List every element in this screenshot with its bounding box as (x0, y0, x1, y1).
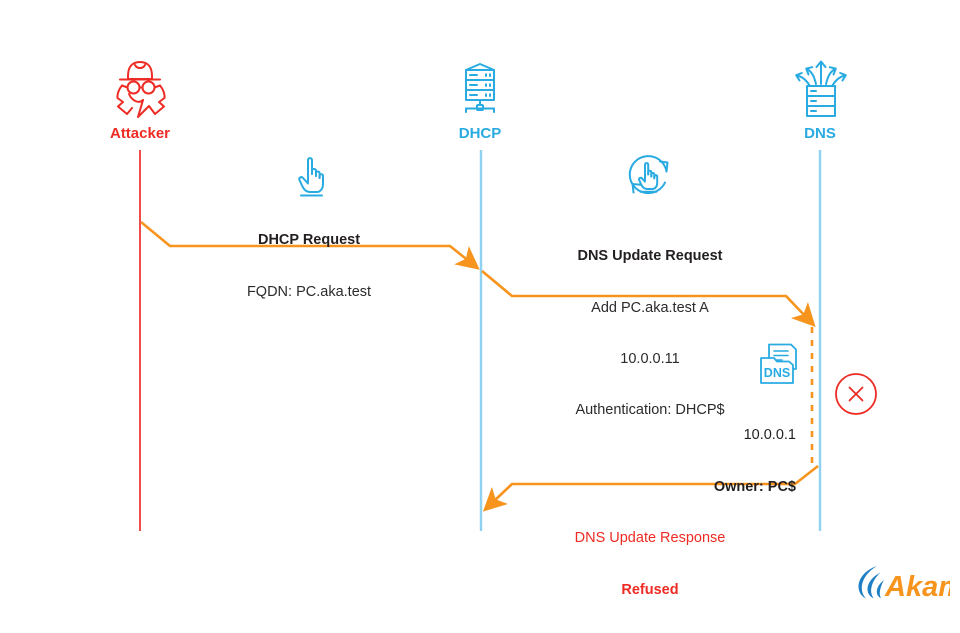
akamai-logo: Akamai (855, 562, 950, 604)
message-dns-update-response: DNS Update Response Refused (575, 496, 726, 633)
akamai-logo-text: Akamai (884, 571, 950, 603)
message-line-fqdn: FQDN: PC.aka.test (247, 284, 371, 301)
message-title-dns-update-request: DNS Update Request (575, 248, 724, 265)
dns-record-ip: 10.0.0.1 (646, 427, 796, 444)
actor-label-attacker: Attacker (110, 125, 170, 143)
dns-record-folder-icon: DNS (755, 342, 805, 390)
server-rack-icon (450, 58, 510, 122)
akamai-wave-icon (859, 566, 885, 599)
pointing-hand-icon (291, 152, 331, 200)
message-dhcp-request: DHCP Request FQDN: PC.aka.test (247, 198, 371, 335)
sequence-diagram: Attacker (0, 0, 960, 621)
message-line-add-record: Add PC.aka.test A (575, 300, 724, 317)
message-title-dhcp-request: DHCP Request (247, 232, 371, 249)
actor-label-dhcp: DHCP (459, 125, 502, 143)
actor-label-dns: DNS (804, 125, 836, 143)
spy-detective-icon (105, 56, 175, 124)
dns-record-owner: Owner: PC$ (646, 479, 796, 496)
dns-record-icon-label: DNS (764, 366, 790, 380)
hand-refresh-icon (624, 152, 676, 202)
message-line-ip: 10.0.0.11 (575, 351, 724, 368)
message-status-refused: Refused (575, 582, 726, 599)
dns-server-arrows-icon (790, 56, 852, 122)
message-title-dns-update-response: DNS Update Response (575, 530, 726, 547)
red-x-circle-icon (834, 372, 878, 416)
